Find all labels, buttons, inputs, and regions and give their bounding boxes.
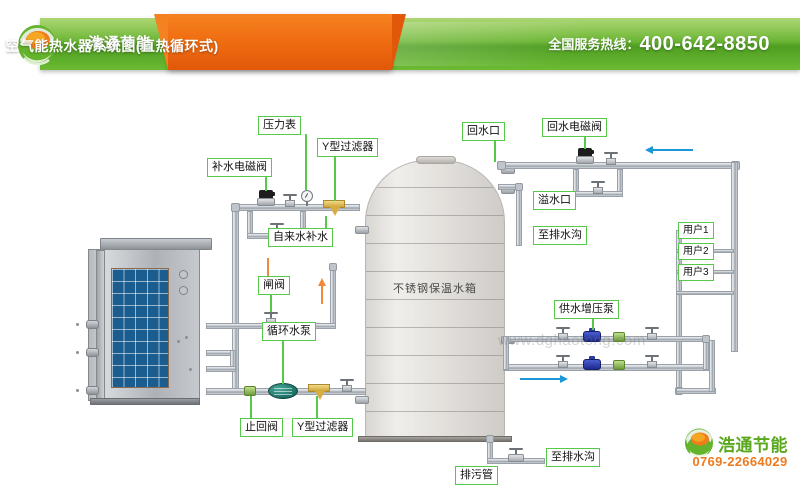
label-user-3: 用户3 bbox=[678, 264, 714, 281]
leader-y-filter-bottom bbox=[316, 396, 318, 418]
heat-pump-marker bbox=[76, 323, 79, 326]
booster-lower-pipe bbox=[503, 364, 709, 371]
overflow-pipe-vertical bbox=[516, 184, 522, 246]
leader-pressure-gauge bbox=[305, 134, 307, 190]
label-y-filter-bottom: Y型过滤器 bbox=[292, 418, 353, 437]
pressure-gauge-icon bbox=[301, 190, 313, 206]
heat-pump-port-upper bbox=[86, 320, 99, 329]
tank-label: 不锈钢保温水箱 bbox=[365, 280, 505, 296]
leader-y-filter-top bbox=[334, 156, 336, 201]
cold-flow-arrow-left bbox=[645, 146, 693, 154]
leader-tap-water bbox=[325, 216, 327, 229]
makeup-solenoid-valve bbox=[257, 190, 275, 206]
tank-top-cap bbox=[416, 156, 456, 164]
label-to-drain-top: 至排水沟 bbox=[533, 226, 587, 245]
page-title: 空气能热水器系统图(直热循环式) bbox=[0, 18, 224, 74]
heat-pump-port-middle bbox=[86, 348, 99, 357]
heatpump-mid-pipe-2 bbox=[206, 366, 236, 372]
cold-flow-arrow-right bbox=[520, 375, 568, 383]
tank-bands bbox=[366, 161, 504, 437]
label-gate-valve: 闸阀 bbox=[258, 276, 290, 295]
return-water-main-pipe bbox=[498, 162, 738, 169]
leader-gate-valve bbox=[270, 294, 272, 312]
flow-arrow-up bbox=[318, 278, 326, 304]
label-user-2: 用户2 bbox=[678, 243, 714, 260]
heat-pump-knob bbox=[179, 286, 188, 295]
insulated-water-tank bbox=[365, 160, 505, 438]
leader-check-valve bbox=[250, 396, 252, 418]
heat-pump-dot bbox=[189, 368, 192, 371]
pipe-elbow bbox=[231, 203, 240, 212]
hotline-label: 全国服务热线： bbox=[548, 37, 639, 52]
heat-pump-unit bbox=[88, 238, 214, 408]
heat-pump-dot bbox=[185, 336, 188, 339]
leader-return-port bbox=[494, 140, 496, 162]
heat-pump-dot bbox=[177, 340, 180, 343]
tank-nozzle-left-upper bbox=[355, 226, 369, 234]
heat-pump-knob bbox=[179, 270, 188, 279]
heat-pump-marker bbox=[76, 351, 79, 354]
tank-nozzle-left-lower bbox=[355, 396, 369, 404]
makeup-gate-valve bbox=[283, 194, 297, 207]
y-filter-bottom bbox=[308, 384, 330, 400]
y-filter-top bbox=[323, 200, 345, 216]
label-return-solenoid: 回水电磁阀 bbox=[542, 118, 607, 137]
label-y-filter-top: Y型过滤器 bbox=[317, 138, 378, 157]
booster-to-user-riser bbox=[709, 340, 715, 392]
label-makeup-solenoid: 补水电磁阀 bbox=[207, 158, 272, 177]
footer-brand-name: 浩通节能 bbox=[718, 431, 788, 456]
blowdown-valve bbox=[508, 448, 524, 462]
booster-gate-valve-4 bbox=[645, 355, 659, 368]
leader-makeup-solenoid bbox=[265, 176, 267, 191]
heatpump-return-riser bbox=[330, 264, 336, 324]
label-to-drain-bottom: 至排水沟 bbox=[546, 448, 600, 467]
user-supply-riser-right bbox=[731, 162, 738, 352]
label-overflow-port: 溢水口 bbox=[533, 191, 576, 210]
page-header: 浩通节能 空气能热水器系统图(直热循环式) 全国服务热线：400-642-885… bbox=[0, 18, 800, 70]
label-user-1: 用户1 bbox=[678, 222, 714, 239]
hotline: 全国服务热线：400-642-8850 bbox=[548, 18, 770, 70]
footer-phone: 0769-22664029 bbox=[684, 454, 796, 469]
pipe-elbow bbox=[329, 263, 337, 271]
label-circulation-pump: 循环水泵 bbox=[262, 322, 316, 341]
label-check-valve: 止回阀 bbox=[240, 418, 283, 437]
footer-branding: 浩通节能 0769-22664029 bbox=[684, 428, 796, 474]
booster-pump-lower bbox=[583, 356, 601, 372]
return-bypass-valve bbox=[591, 181, 605, 194]
heat-pump-marker bbox=[76, 389, 79, 392]
evaporator-coil bbox=[111, 268, 169, 388]
leader-booster-pump bbox=[592, 318, 594, 330]
booster-gate-valve-3 bbox=[556, 355, 570, 368]
user3-branch-pipe bbox=[676, 291, 734, 295]
site-watermark: www.dghaotong.com bbox=[498, 332, 698, 349]
circulation-pump bbox=[268, 383, 298, 399]
return-gate-valve bbox=[604, 152, 618, 165]
leader-circulation-pump bbox=[282, 340, 284, 384]
label-pressure-gauge: 压力表 bbox=[258, 116, 301, 135]
booster-check-valve-2 bbox=[613, 359, 625, 371]
diagram-canvas: 不锈钢保温水箱 压力表 补水电磁阀 bbox=[0, 78, 800, 486]
heat-pump-port-lower bbox=[86, 386, 99, 395]
pipe-elbow bbox=[497, 161, 506, 170]
hotline-number: 400-642-8850 bbox=[639, 33, 770, 55]
return-solenoid-valve bbox=[576, 148, 594, 164]
label-booster-pump: 供水增压泵 bbox=[554, 300, 619, 319]
heat-pump-base bbox=[90, 398, 200, 405]
gate-valve-supply bbox=[340, 379, 354, 392]
pipe-elbow bbox=[515, 183, 523, 191]
label-blowdown-pipe: 排污管 bbox=[455, 466, 498, 485]
leader-return-solenoid bbox=[584, 136, 586, 149]
system-diagram-page: 浩通节能 空气能热水器系统图(直热循环式) 全国服务热线：400-642-885… bbox=[0, 0, 800, 486]
label-return-port: 回水口 bbox=[462, 122, 505, 141]
pipe-elbow bbox=[486, 435, 494, 443]
label-tap-water-makeup: 自来水补水 bbox=[268, 228, 333, 247]
